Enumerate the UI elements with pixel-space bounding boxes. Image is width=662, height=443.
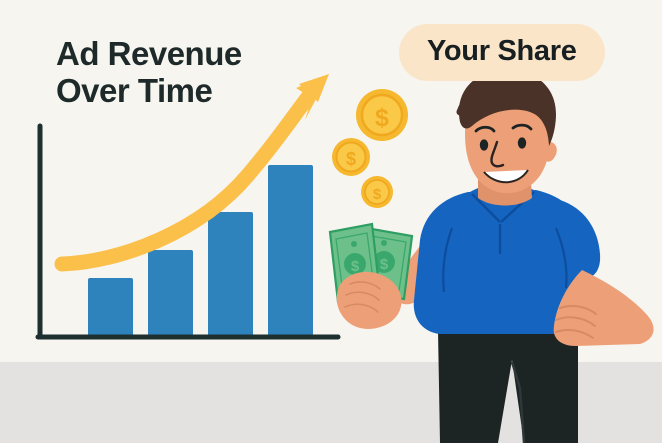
person-eye-left bbox=[480, 139, 488, 150]
dollar-bill-front-symbol: $ bbox=[351, 258, 360, 275]
coin-small-symbol: $ bbox=[373, 186, 382, 203]
coin-medium-symbol: $ bbox=[346, 149, 356, 169]
coin-large-symbol: $ bbox=[375, 104, 389, 132]
dollar-bill-back-symbol: $ bbox=[380, 256, 389, 273]
person-eye-right bbox=[518, 137, 526, 148]
coin-medium: $ bbox=[332, 138, 370, 176]
person-pants bbox=[438, 330, 578, 443]
bar-3 bbox=[208, 212, 253, 336]
coin-small: $ bbox=[361, 176, 393, 208]
bar-1 bbox=[88, 278, 133, 336]
your-share-badge: Your Share bbox=[399, 24, 605, 81]
coin-large: $ bbox=[356, 89, 408, 141]
illustration-canvas: $ $ $ $ bbox=[0, 0, 662, 443]
bar-4 bbox=[268, 165, 313, 336]
bar-2 bbox=[148, 250, 193, 336]
page-title: Ad Revenue Over Time bbox=[56, 36, 356, 110]
person-head bbox=[459, 70, 557, 193]
